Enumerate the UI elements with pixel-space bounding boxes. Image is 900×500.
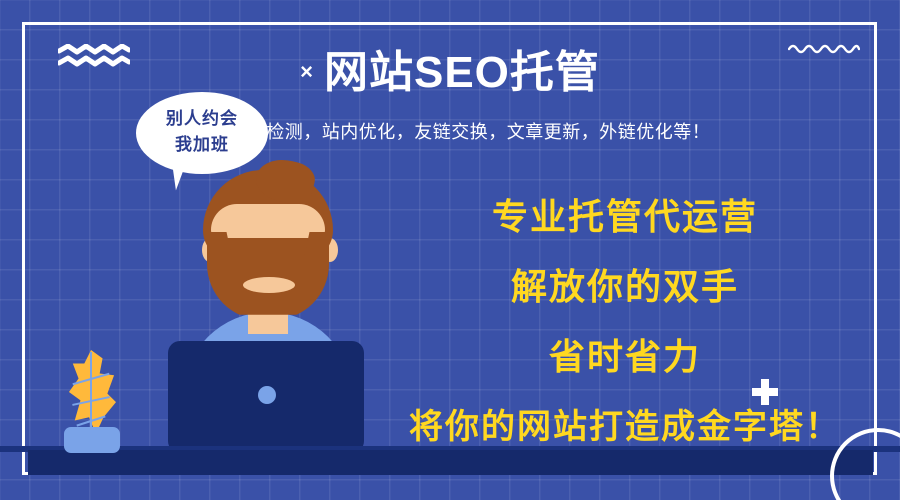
illustration-person bbox=[0, 0, 900, 500]
speech-bubble-line-1: 别人约会 bbox=[136, 106, 268, 132]
plant-pot bbox=[64, 427, 120, 453]
person-mouth bbox=[243, 277, 295, 293]
person-forehead bbox=[211, 204, 325, 238]
speech-bubble: 别人约会 我加班 bbox=[136, 92, 268, 174]
plus-icon bbox=[752, 379, 778, 405]
seo-hosting-banner: ×网站SEO托管 含：SEO检测，站内优化，友链交换，文章更新，外链优化等！ 专… bbox=[0, 0, 900, 500]
laptop-logo-icon bbox=[258, 386, 276, 404]
speech-bubble-line-2: 我加班 bbox=[136, 132, 268, 158]
desk-surface bbox=[28, 450, 873, 475]
